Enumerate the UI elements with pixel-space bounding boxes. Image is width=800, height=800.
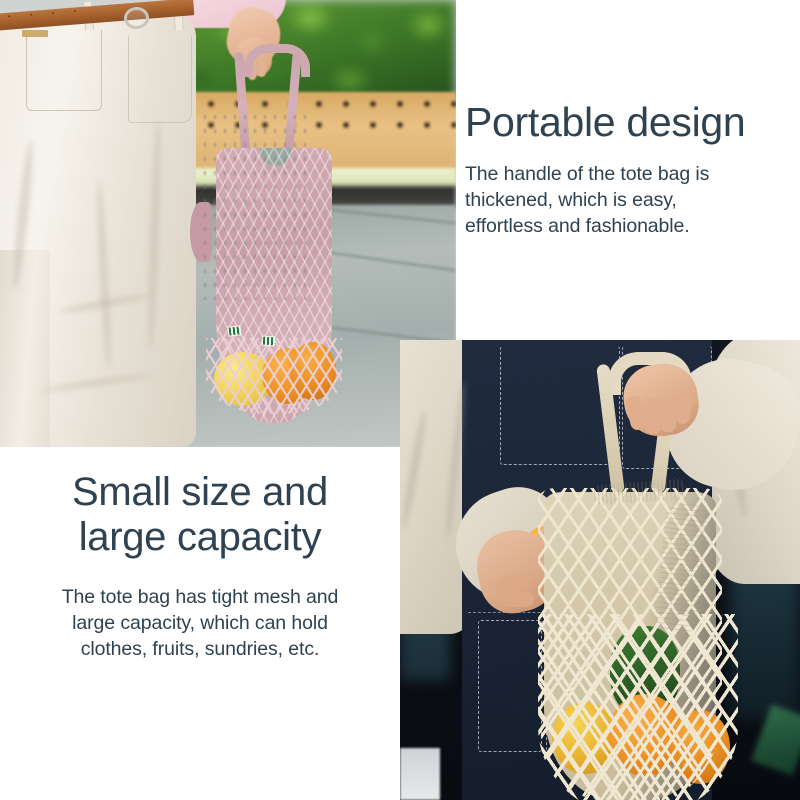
body-line: The handle of the tote bag is	[465, 162, 800, 188]
product-infographic-canvas: Portable design The handle of the tote b…	[0, 0, 800, 800]
body-line: large capacity, which can hold	[0, 610, 400, 636]
fruit-sticker-label	[262, 336, 276, 347]
body-line: effortless and fashionable.	[465, 214, 800, 240]
bag-mesh-over-fruit	[206, 338, 342, 414]
finger	[660, 398, 676, 432]
body-small-size-large-capacity: The tote bag has tight mesh and large ca…	[0, 584, 400, 662]
jeans-brand-tag	[22, 30, 48, 37]
heading-small-size-large-capacity: Small size and large capacity	[0, 470, 400, 560]
bag-mesh-weave-lower	[538, 614, 738, 800]
heading-line: Small size and	[0, 470, 400, 515]
heading-portable-design: Portable design	[465, 102, 800, 144]
jeans-pocket	[26, 30, 102, 111]
body-line: thickened, which is easy,	[465, 188, 800, 214]
body-line: clothes, fruits, sundries, etc.	[0, 636, 400, 662]
cream-mesh-tote-bag	[512, 364, 732, 800]
photo-bottom-right-large-capacity	[400, 340, 800, 800]
heading-line: large capacity	[0, 515, 400, 560]
jeans-pocket	[128, 36, 192, 123]
text-block-small-size-large-capacity: Small size and large capacity The tote b…	[0, 470, 400, 662]
body-line: The tote bag has tight mesh and	[0, 584, 400, 610]
jeans-leg	[0, 250, 50, 447]
text-block-portable-design: Portable design The handle of the tote b…	[465, 102, 800, 240]
background-counter	[400, 748, 440, 800]
body-portable-design: The handle of the tote bag is thickened,…	[465, 162, 800, 240]
photo-top-left-portable-design	[0, 0, 456, 447]
bag-mesh-openings	[200, 110, 308, 300]
fruit-sticker-label	[228, 325, 242, 336]
